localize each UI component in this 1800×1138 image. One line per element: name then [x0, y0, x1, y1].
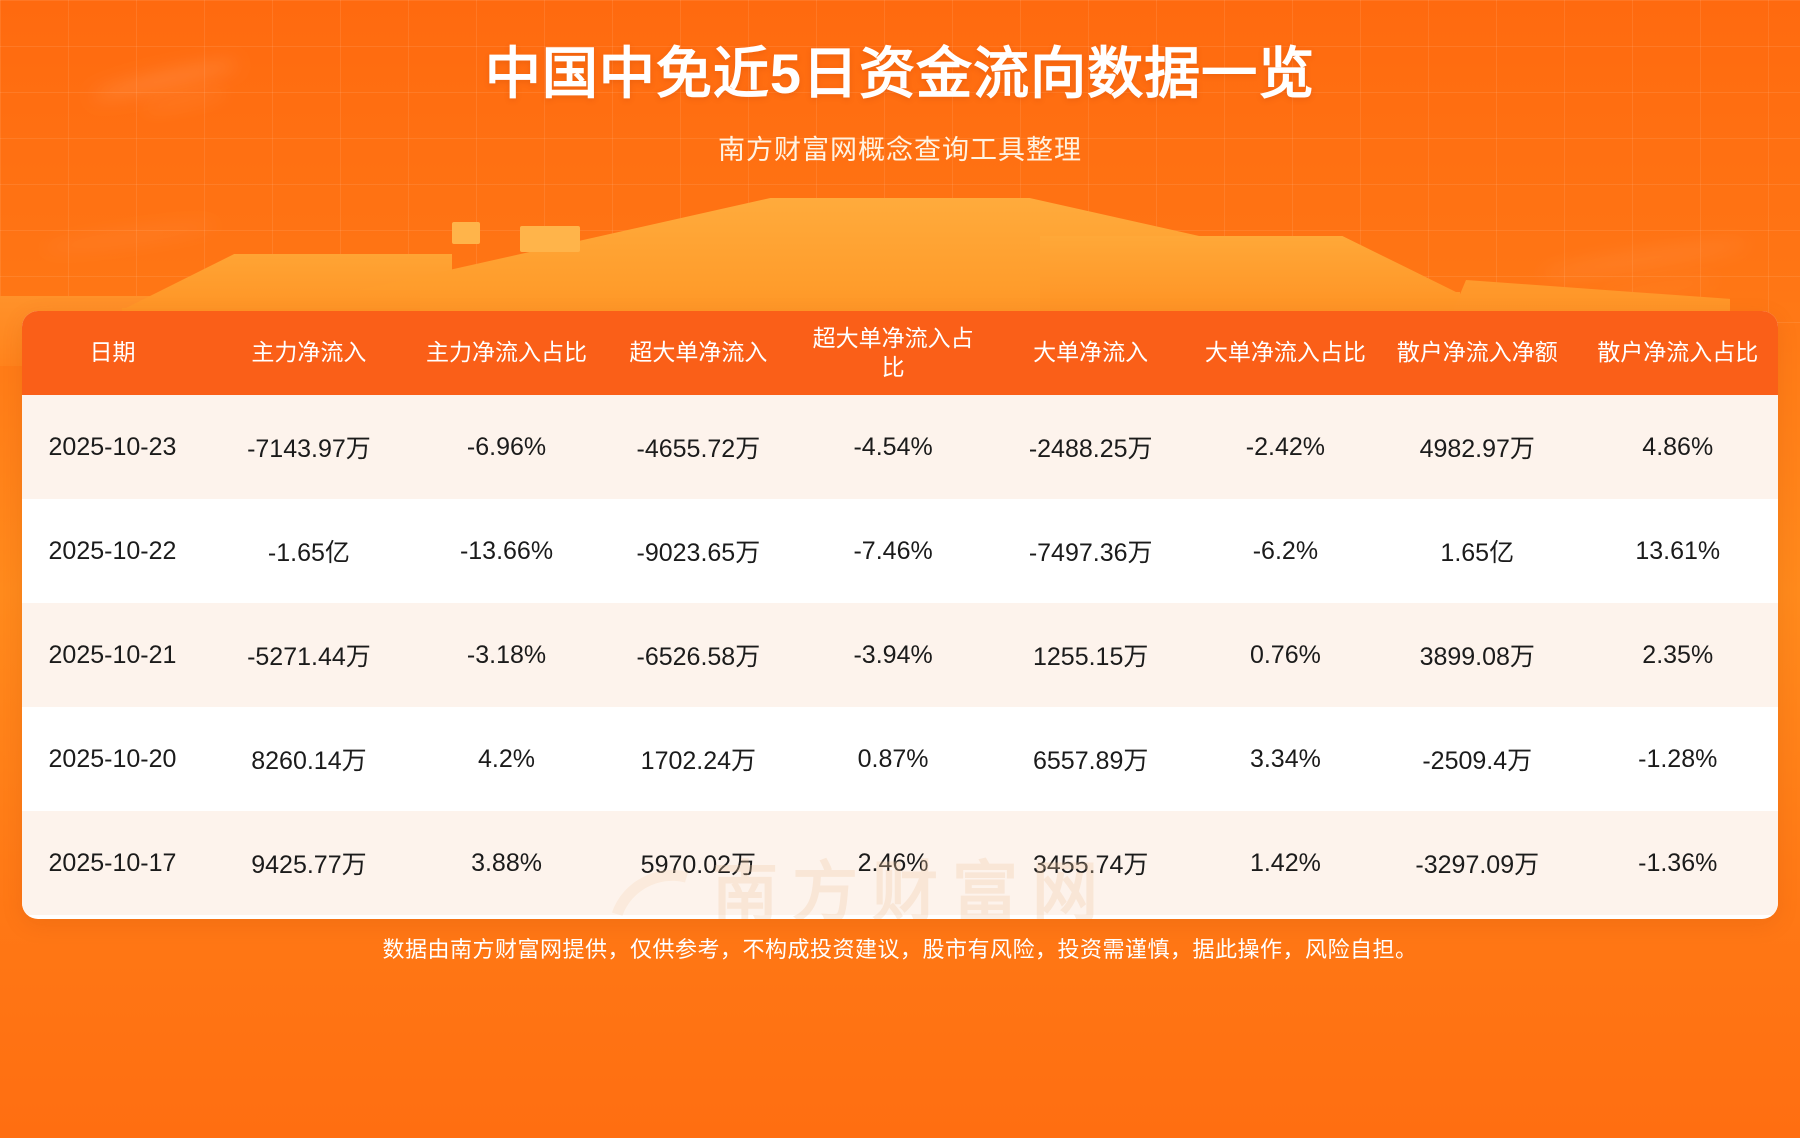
table-body: 2025-10-23-7143.97万-6.96%-4655.72万-4.54%…: [22, 395, 1778, 915]
cell-date: 2025-10-17: [22, 811, 203, 915]
cell-xl-net: 5970.02万: [598, 811, 798, 915]
table-header-row: 日期 主力净流入 主力净流入占比 超大单净流入 超大单净流入占比 大单净流入 大…: [22, 311, 1778, 395]
cell-xl-net: -4655.72万: [598, 395, 798, 499]
cell-retail-net: -2509.4万: [1377, 707, 1577, 811]
cell-main-net: -5271.44万: [203, 603, 415, 707]
table-header: 日期 主力净流入 主力净流入占比 超大单净流入 超大单净流入占比 大单净流入 大…: [22, 311, 1778, 395]
podium-accent: [452, 222, 480, 244]
page-header: 中国中免近5日资金流向数据一览 南方财富网概念查询工具整理: [0, 0, 1800, 167]
cell-xl-net: 1702.24万: [598, 707, 798, 811]
cell-retail-pct: 2.35%: [1577, 603, 1778, 707]
cell-main-pct: -6.96%: [415, 395, 598, 499]
cell-lg-net: -2488.25万: [988, 395, 1194, 499]
cell-lg-pct: -6.2%: [1194, 499, 1377, 603]
cell-main-net: 8260.14万: [203, 707, 415, 811]
cell-main-pct: -13.66%: [415, 499, 598, 603]
cell-lg-pct: -2.42%: [1194, 395, 1377, 499]
column-header-lg-pct[interactable]: 大单净流入占比: [1194, 311, 1377, 395]
column-header-main-net[interactable]: 主力净流入: [203, 311, 415, 395]
column-header-xl-net[interactable]: 超大单净流入: [598, 311, 798, 395]
cell-date: 2025-10-22: [22, 499, 203, 603]
footer-disclaimer: 数据由南方财富网提供，仅供参考，不构成投资建议，股市有风险，投资需谨慎，据此操作…: [0, 932, 1800, 964]
cell-xl-pct: 0.87%: [799, 707, 988, 811]
column-header-xl-pct[interactable]: 超大单净流入占比: [799, 311, 988, 395]
cell-retail-net: 4982.97万: [1377, 395, 1577, 499]
cell-main-pct: 4.2%: [415, 707, 598, 811]
podium-block: [1040, 236, 1460, 294]
data-table-card: 日期 主力净流入 主力净流入占比 超大单净流入 超大单净流入占比 大单净流入 大…: [22, 311, 1778, 919]
column-header-main-pct[interactable]: 主力净流入占比: [415, 311, 598, 395]
cell-main-net: 9425.77万: [203, 811, 415, 915]
cell-main-net: -7143.97万: [203, 395, 415, 499]
page-subtitle: 南方财富网概念查询工具整理: [0, 128, 1800, 167]
cell-xl-pct: 2.46%: [799, 811, 988, 915]
cell-retail-pct: 4.86%: [1577, 395, 1778, 499]
cell-main-pct: 3.88%: [415, 811, 598, 915]
cell-main-net: -1.65亿: [203, 499, 415, 603]
cell-lg-net: 1255.15万: [988, 603, 1194, 707]
column-header-retail-pct[interactable]: 散户净流入占比: [1577, 311, 1778, 395]
cell-date: 2025-10-20: [22, 707, 203, 811]
cell-xl-pct: -7.46%: [799, 499, 988, 603]
table-row: 2025-10-23-7143.97万-6.96%-4655.72万-4.54%…: [22, 395, 1778, 499]
column-header-lg-net[interactable]: 大单净流入: [988, 311, 1194, 395]
column-header-retail-net[interactable]: 散户净流入净额: [1377, 311, 1577, 395]
cell-xl-net: -6526.58万: [598, 603, 798, 707]
table-row: 2025-10-208260.14万4.2%1702.24万0.87%6557.…: [22, 707, 1778, 811]
cell-lg-net: 3455.74万: [988, 811, 1194, 915]
cell-lg-pct: 0.76%: [1194, 603, 1377, 707]
cell-date: 2025-10-21: [22, 603, 203, 707]
cell-lg-pct: 1.42%: [1194, 811, 1377, 915]
cell-lg-net: 6557.89万: [988, 707, 1194, 811]
cell-main-pct: -3.18%: [415, 603, 598, 707]
cell-xl-pct: -4.54%: [799, 395, 988, 499]
cell-retail-pct: -1.28%: [1577, 707, 1778, 811]
table-row: 2025-10-179425.77万3.88%5970.02万2.46%3455…: [22, 811, 1778, 915]
cell-retail-net: 1.65亿: [1377, 499, 1577, 603]
podium-accent: [520, 226, 580, 252]
table-row: 2025-10-22-1.65亿-13.66%-9023.65万-7.46%-7…: [22, 499, 1778, 603]
table-row: 2025-10-21-5271.44万-3.18%-6526.58万-3.94%…: [22, 603, 1778, 707]
cell-lg-pct: 3.34%: [1194, 707, 1377, 811]
page-title: 中国中免近5日资金流向数据一览: [0, 42, 1800, 106]
cell-retail-pct: -1.36%: [1577, 811, 1778, 915]
cell-lg-net: -7497.36万: [988, 499, 1194, 603]
cell-date: 2025-10-23: [22, 395, 203, 499]
cell-retail-net: 3899.08万: [1377, 603, 1577, 707]
cell-retail-net: -3297.09万: [1377, 811, 1577, 915]
cell-xl-net: -9023.65万: [598, 499, 798, 603]
cell-xl-pct: -3.94%: [799, 603, 988, 707]
cell-retail-pct: 13.61%: [1577, 499, 1778, 603]
column-header-date[interactable]: 日期: [22, 311, 203, 395]
fund-flow-table: 日期 主力净流入 主力净流入占比 超大单净流入 超大单净流入占比 大单净流入 大…: [22, 311, 1778, 915]
